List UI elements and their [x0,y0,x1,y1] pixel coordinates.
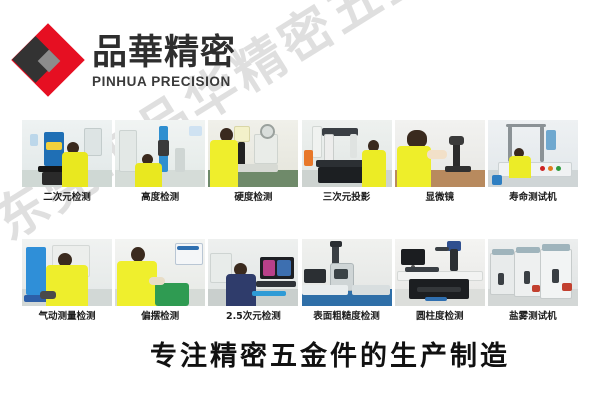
equipment-caption: 2.5次元检测 [208,310,298,324]
gallery-item[interactable]: 硬度检测 [208,120,298,205]
gallery-item[interactable]: 气动测量检测 [22,239,112,324]
gallery-item[interactable]: 2.5次元检测 [208,239,298,324]
brand-name-cn: 品華精密 [92,35,236,72]
equipment-photo-cylindricity[interactable] [395,239,485,306]
gallery-row: 二次元检测 高度检测 [22,120,578,205]
gallery-item[interactable]: 寿命测试机 [488,120,578,205]
gallery-row: 气动测量检测 偏摆检测 [22,239,578,324]
equipment-caption: 三次元投影 [302,191,392,205]
gallery-item[interactable]: 二次元检测 [22,120,112,205]
gallery-item[interactable]: 盐雾测试机 [488,239,578,324]
gallery-item[interactable]: 三次元投影 [302,120,392,205]
equipment-caption: 盐雾测试机 [488,310,578,324]
equipment-photo-hardness-tester[interactable] [208,120,298,187]
equipment-photo-height-gauge[interactable] [115,120,205,187]
equipment-photo-cmm-projection[interactable] [302,120,392,187]
brand-name-en: PINHUA PRECISION [92,74,236,89]
equipment-photo-surface-roughness[interactable] [302,239,392,306]
equipment-photo-25d-inspection[interactable] [208,239,298,306]
equipment-photo-air-gauge[interactable] [22,239,112,306]
equipment-caption: 表面粗糙度检测 [302,310,392,324]
equipment-photo-life-tester[interactable] [488,120,578,187]
equipment-caption: 硬度检测 [208,191,298,205]
page-tagline: 专注精密五金件的生产制造 [0,334,600,373]
gallery-item[interactable]: 偏摆检测 [115,239,205,324]
gallery-item[interactable]: 显微镜 [395,120,485,205]
gallery-item[interactable]: 圆柱度检测 [395,239,485,324]
equipment-photo-runout-inspection[interactable] [115,239,205,306]
page-root: 东莞市品华精密五金有限公司 品華精密 PINHUA PRECISION [0,0,600,400]
equipment-gallery: 二次元检测 高度检测 [22,120,578,329]
gallery-item[interactable]: 表面粗糙度检测 [302,239,392,324]
equipment-photo-microscope[interactable] [395,120,485,187]
equipment-caption: 显微镜 [395,191,485,205]
equipment-photo-salt-spray-tester[interactable] [488,239,578,306]
diamond-logo-icon [14,26,86,98]
gallery-item[interactable]: 高度检测 [115,120,205,205]
equipment-photo-2d-inspection[interactable] [22,120,112,187]
equipment-caption: 二次元检测 [22,191,112,205]
equipment-caption: 气动测量检测 [22,310,112,324]
brand-logo-text: 品華精密 PINHUA PRECISION [92,35,236,90]
brand-logo: 品華精密 PINHUA PRECISION [14,26,236,98]
equipment-caption: 高度检测 [115,191,205,205]
equipment-caption: 寿命测试机 [488,191,578,205]
equipment-caption: 偏摆检测 [115,310,205,324]
equipment-caption: 圆柱度检测 [395,310,485,324]
